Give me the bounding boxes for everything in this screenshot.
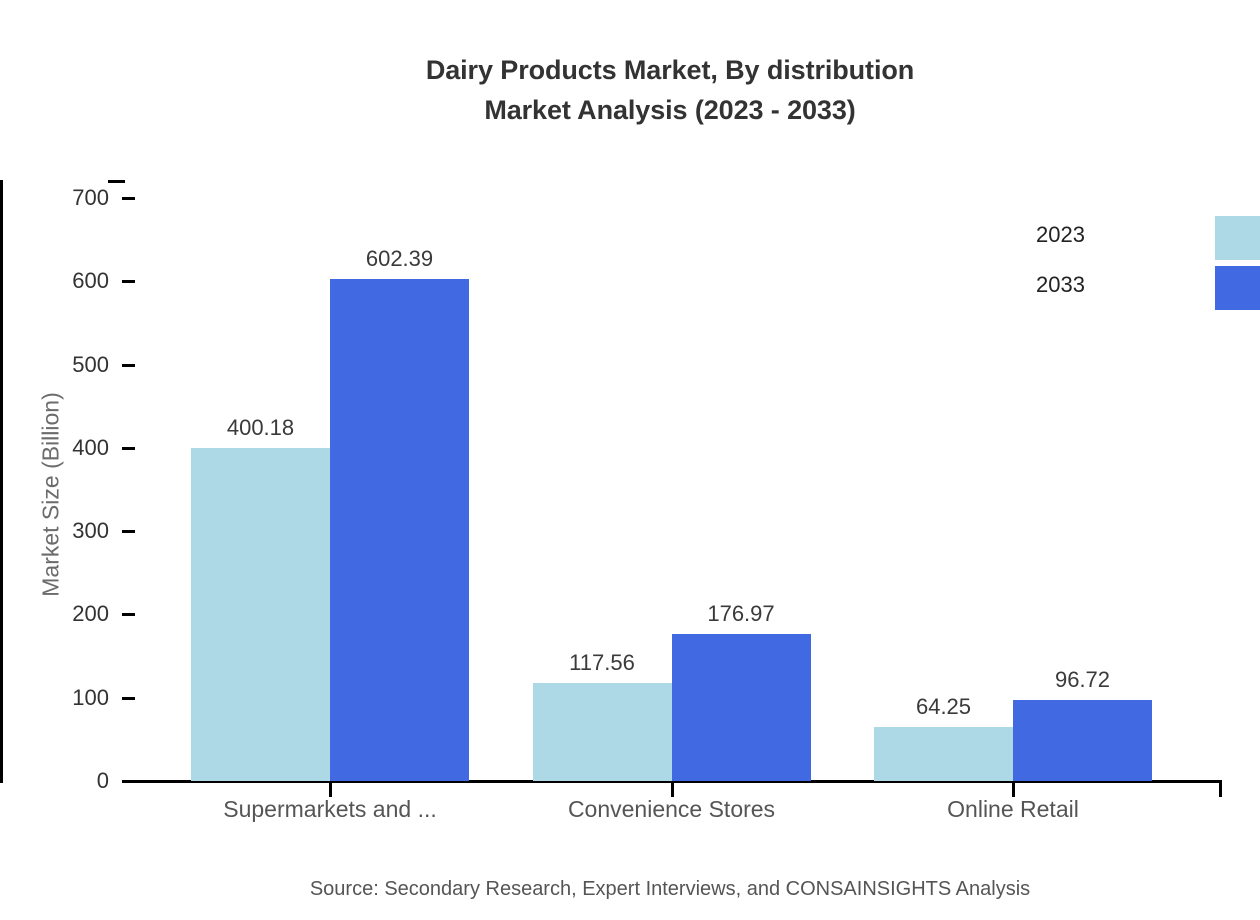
y-tick-mark [122,780,135,783]
y-tick-mark [122,364,135,367]
y-axis-top-cap [108,180,125,183]
y-tick-label: 700 [9,187,109,209]
y-tick-label: 500 [9,354,109,376]
y-tick-mark [122,280,135,283]
y-tick-label: 200 [9,603,109,625]
bar-2033-1[interactable] [672,634,811,781]
y-tick-label: 0 [9,770,109,792]
x-category-label: Online Retail [833,793,1193,825]
legend-swatch [1215,266,1260,310]
y-tick-label: 400 [9,437,109,459]
y-tick-mark [122,197,135,200]
x-category-label: Convenience Stores [492,793,852,825]
chart-title: Dairy Products Market, By distribution M… [0,50,1260,130]
y-tick-mark [122,530,135,533]
legend-label: 2023 [965,224,1085,246]
legend-swatch [1215,216,1260,260]
bar-chart: Dairy Products Market, By distribution M… [0,0,1260,920]
source-note: Source: Secondary Research, Expert Inter… [0,878,1260,901]
chart-title-line-2: Market Analysis (2023 - 2033) [0,90,1260,130]
bar-2033-2[interactable] [1013,700,1152,781]
bar-2023-1[interactable] [533,683,672,781]
bar-value-label: 96.72 [983,669,1183,691]
bar-2023-0[interactable] [191,448,330,781]
bar-2033-0[interactable] [330,279,469,781]
bar-value-label: 602.39 [300,248,500,270]
y-tick-mark [122,613,135,616]
legend-label: 2033 [965,274,1085,296]
y-tick-mark [122,697,135,700]
x-axis-end-cap [1219,780,1222,797]
x-category-label: Supermarkets and ... [150,793,510,825]
y-tick-label: 600 [9,270,109,292]
chart-title-line-1: Dairy Products Market, By distribution [0,50,1260,90]
y-tick-label: 300 [9,520,109,542]
y-tick-mark [122,447,135,450]
bar-2023-2[interactable] [874,727,1013,781]
y-tick-label: 100 [9,687,109,709]
y-axis-spine [0,180,3,783]
bar-value-label: 176.97 [641,603,841,625]
